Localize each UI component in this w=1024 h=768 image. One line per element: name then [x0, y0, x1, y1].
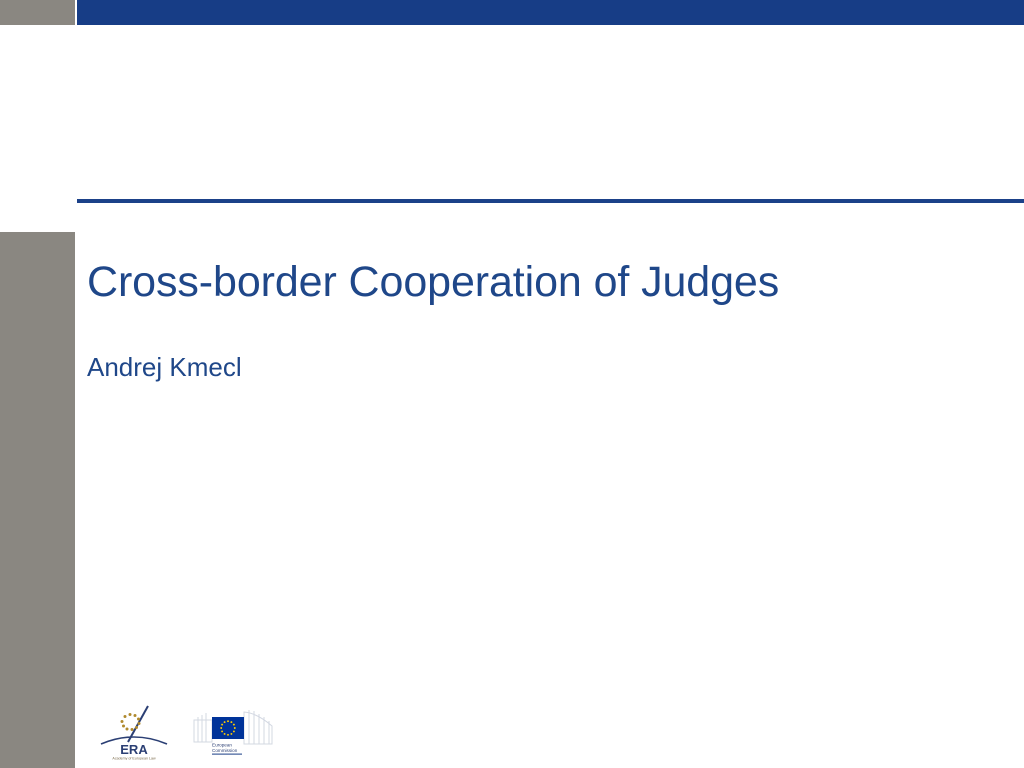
- era-wordmark: ERA: [120, 742, 148, 757]
- ec-caption-underline: [212, 754, 242, 755]
- top-band-gray-segment: [0, 0, 75, 25]
- top-band: [0, 0, 1024, 25]
- era-logo: ERA Academy of European Law: [98, 702, 170, 760]
- top-band-blue-segment: [77, 0, 1024, 25]
- side-column: [0, 232, 75, 768]
- european-commission-logo: European Commission: [192, 704, 277, 760]
- author-name: Andrej Kmecl: [87, 352, 242, 383]
- page-title: Cross-border Cooperation of Judges: [87, 258, 779, 306]
- ec-caption-line1: European: [212, 743, 232, 748]
- header-rule: [77, 199, 1024, 203]
- era-logo-graphic: ERA Academy of European Law: [98, 702, 170, 760]
- logo-strip: ERA Academy of European Law: [98, 698, 277, 760]
- european-commission-logo-graphic: European Commission: [192, 704, 277, 760]
- presentation-slide: Cross-border Cooperation of Judges Andre…: [0, 0, 1024, 768]
- ec-caption-line2: Commission: [212, 748, 238, 753]
- era-tagline: Academy of European Law: [112, 757, 156, 761]
